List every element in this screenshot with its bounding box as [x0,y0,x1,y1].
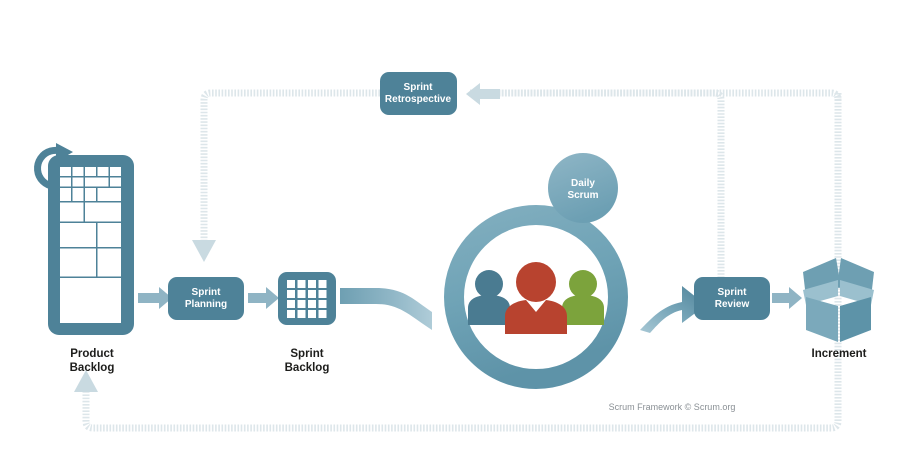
node-daily-scrum[interactable]: Daily Scrum [548,153,618,223]
product-backlog-label-line2: Backlog [70,362,115,374]
node-sprint-planning[interactable]: Sprint Planning [168,277,244,320]
sprint-retrospective-label-line1: Sprint [404,82,434,93]
sprint-backlog-label-line2: Backlog [285,362,330,374]
connector-top-right-corner [470,93,838,100]
connector-planning-to-sprint-backlog [248,287,279,309]
daily-scrum-label-line1: Daily [571,178,595,189]
sprint-review-label-line1: Sprint [718,287,748,298]
node-scrum-team[interactable]: 1 Scrum Team [454,215,618,412]
sprint-planning-label-line1: Sprint [192,287,222,298]
node-sprint-backlog[interactable]: Sprint Backlog [278,272,336,374]
node-product-backlog[interactable]: Product Backlog [38,143,134,374]
sprint-backlog-card [278,272,336,325]
daily-scrum-label-line2: Scrum [567,190,598,201]
sprint-backlog-label-line1: Sprint [290,348,323,360]
connector-backlog-to-planning [138,287,172,309]
people-group-icon [468,262,604,334]
sprint-planning-label-line2: Planning [185,299,227,310]
backlog-list-icon [60,167,121,323]
scrum-team-ring-label: 1 Scrum Team [496,389,578,412]
node-sprint-review[interactable]: Sprint Review [694,277,770,320]
connector-retrospective-to-planning [204,93,380,240]
product-backlog-label-line1: Product [70,348,114,360]
sprint-review-label-line2: Review [715,299,750,310]
node-sprint-retrospective[interactable]: Sprint Retrospective [380,72,457,115]
connector-sprint-backlog-to-team [340,280,432,330]
arrow-into-retrospective [466,83,500,105]
connector-review-to-increment [772,287,802,309]
credit-text: Scrum Framework © Scrum.org [609,402,736,412]
arrowhead-into-sprint-planning [192,240,216,262]
scrum-framework-diagram: Product Backlog Sprint Planning [0,0,897,463]
increment-label: Increment [812,348,867,360]
sprint-retrospective-label-line2: Retrospective [385,94,452,105]
